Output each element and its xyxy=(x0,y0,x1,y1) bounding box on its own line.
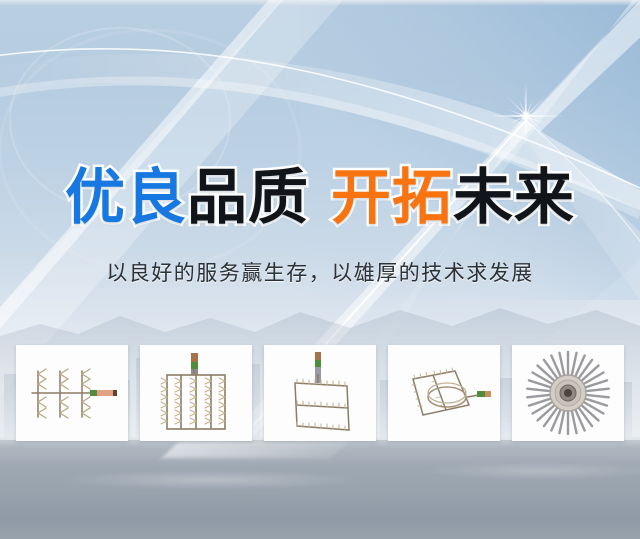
ground-light-streak xyxy=(162,442,349,458)
promo-banner: 优良品质 开拓未来 以良好的服务赢生存，以雄厚的技术求发展 xyxy=(0,0,640,539)
headline-part-1: 优良 xyxy=(65,163,187,233)
banner-subtitle: 以良好的服务赢生存，以雄厚的技术求发展 xyxy=(0,258,640,288)
headline-part-4: 未来 xyxy=(453,163,575,233)
ground-highlight-right xyxy=(420,462,640,480)
triple-comb-rake-icon xyxy=(22,355,122,431)
product-card-radial-spike-wheel[interactable] xyxy=(512,345,624,441)
product-thumbnail-strip xyxy=(16,345,628,441)
multi-row-spike-rake-icon xyxy=(155,351,237,435)
product-card-triple-comb-rake[interactable] xyxy=(16,345,128,441)
product-card-flat-frame-rake[interactable] xyxy=(264,345,376,441)
headline-part-2: 品质 xyxy=(187,163,309,233)
ring-frame-tool-icon xyxy=(395,357,493,429)
flat-frame-rake-icon xyxy=(281,350,359,436)
headline-part-3: 开拓 xyxy=(331,163,453,233)
product-card-multi-row-spike-rake[interactable] xyxy=(140,345,252,441)
product-card-ring-frame-tool[interactable] xyxy=(388,345,500,441)
radial-spike-wheel-icon xyxy=(524,350,612,436)
banner-headline: 优良品质 开拓未来 xyxy=(0,166,640,230)
headline-spacer xyxy=(309,163,331,233)
ground-highlight-left xyxy=(60,470,360,490)
